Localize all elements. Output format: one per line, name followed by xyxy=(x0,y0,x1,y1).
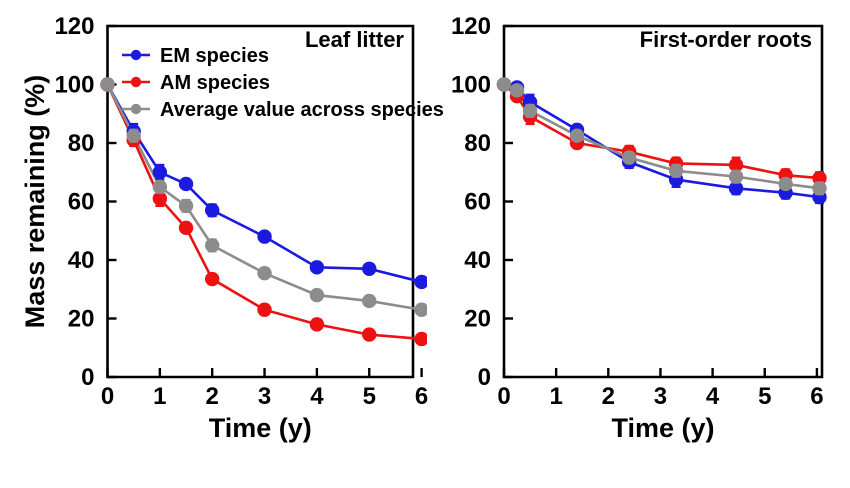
data-point[interactable] xyxy=(310,288,324,302)
x-tick-label: 2 xyxy=(602,383,615,410)
data-point[interactable] xyxy=(812,181,826,195)
y-tick-label: 120 xyxy=(54,13,94,40)
legend-label: Average value across species xyxy=(160,99,444,121)
data-point[interactable] xyxy=(362,327,376,341)
data-point[interactable] xyxy=(414,275,428,289)
y-tick-label: 80 xyxy=(464,130,491,157)
y-tick-label: 100 xyxy=(54,72,94,99)
data-point[interactable] xyxy=(729,169,743,183)
y-tick-label: 20 xyxy=(464,306,491,333)
data-point[interactable] xyxy=(257,266,271,280)
data-point[interactable] xyxy=(570,128,584,142)
x-tick-label: 1 xyxy=(549,383,562,410)
data-point[interactable] xyxy=(362,262,376,276)
y-tick-label: 0 xyxy=(81,364,94,391)
x-tick-label: 3 xyxy=(258,383,271,410)
data-point[interactable] xyxy=(414,332,428,346)
figure-svg: 0204060801001200123456Time (y)Mass remai… xyxy=(0,0,850,488)
panel-title: First-order roots xyxy=(640,27,812,52)
data-point[interactable] xyxy=(179,199,193,213)
figure-background xyxy=(0,0,850,488)
data-point[interactable] xyxy=(669,164,683,178)
x-tick-label: 6 xyxy=(810,383,823,410)
data-point[interactable] xyxy=(179,177,193,191)
data-point[interactable] xyxy=(153,180,167,194)
data-point[interactable] xyxy=(205,203,219,217)
y-tick-label: 80 xyxy=(68,130,95,157)
data-point[interactable] xyxy=(414,303,428,317)
x-axis-title: Time (y) xyxy=(611,413,714,443)
panel-title: Leaf litter xyxy=(305,27,404,52)
x-tick-label: 2 xyxy=(206,383,219,410)
y-tick-label: 120 xyxy=(451,13,491,40)
legend-marker xyxy=(131,50,141,60)
x-tick-label: 3 xyxy=(654,383,667,410)
x-tick-label: 0 xyxy=(497,383,510,410)
data-point[interactable] xyxy=(205,272,219,286)
data-point[interactable] xyxy=(257,229,271,243)
data-point[interactable] xyxy=(778,177,792,191)
data-point[interactable] xyxy=(310,260,324,274)
figure-container: 0204060801001200123456Time (y)Mass remai… xyxy=(0,0,850,488)
data-point[interactable] xyxy=(310,317,324,331)
x-tick-label: 4 xyxy=(706,383,720,410)
data-point[interactable] xyxy=(100,77,114,91)
y-tick-label: 0 xyxy=(478,364,491,391)
y-tick-label: 60 xyxy=(68,189,95,216)
data-point[interactable] xyxy=(523,104,537,118)
data-point[interactable] xyxy=(179,221,193,235)
data-point[interactable] xyxy=(362,294,376,308)
y-tick-label: 60 xyxy=(464,189,491,216)
legend-item[interactable]: Average value across species xyxy=(122,99,444,121)
data-point[interactable] xyxy=(510,83,524,97)
y-axis-title: Mass remaining (%) xyxy=(20,75,50,329)
y-tick-label: 20 xyxy=(68,306,95,333)
x-tick-label: 4 xyxy=(310,383,324,410)
y-tick-label: 40 xyxy=(464,247,491,274)
data-point[interactable] xyxy=(257,303,271,317)
y-tick-label: 40 xyxy=(68,247,95,274)
x-axis-title: Time (y) xyxy=(209,413,312,443)
data-point[interactable] xyxy=(153,165,167,179)
data-point[interactable] xyxy=(205,238,219,252)
x-tick-label: 0 xyxy=(101,383,114,410)
x-tick-label: 5 xyxy=(363,383,376,410)
data-point[interactable] xyxy=(126,128,140,142)
data-point[interactable] xyxy=(497,77,511,91)
legend-marker xyxy=(131,104,141,114)
y-tick-label: 100 xyxy=(451,72,491,99)
x-tick-label: 6 xyxy=(415,383,428,410)
legend-label: AM species xyxy=(160,72,270,94)
legend-label: EM species xyxy=(160,45,269,67)
data-point[interactable] xyxy=(622,150,636,164)
x-tick-label: 1 xyxy=(153,383,166,410)
legend-marker xyxy=(131,77,141,87)
x-tick-label: 5 xyxy=(758,383,771,410)
